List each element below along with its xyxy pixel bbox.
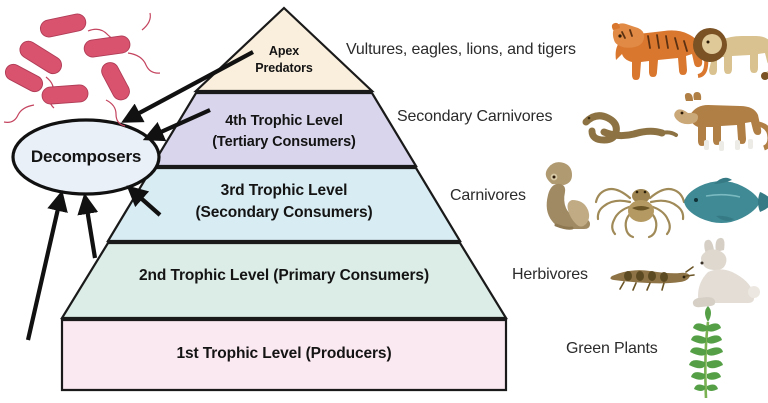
tier-label-apex-line1: Apex xyxy=(246,44,322,59)
decomposers-label: Decomposers xyxy=(24,147,148,167)
wolf-illustration xyxy=(674,92,768,151)
tier-label-primary: 2nd Trophic Level (Primary Consumers) xyxy=(124,267,444,285)
category-label-green-plants: Green Plants xyxy=(566,340,658,358)
category-label-herbivores: Herbivores xyxy=(512,266,588,284)
rabbit-illustration xyxy=(693,238,760,307)
tier-label-tertiary-line2: (Tertiary Consumers) xyxy=(198,134,370,151)
tiger-illustration xyxy=(612,23,706,80)
tier-label-producers: 1st Trophic Level (Producers) xyxy=(124,345,444,363)
green-plant-illustration xyxy=(689,306,723,398)
category-label-apex: Vultures, eagles, lions, and tigers xyxy=(346,41,576,59)
caterpillar-illustration xyxy=(610,267,694,290)
trophic-pyramid-diagram: Decomposers Apex Predators 4th Trophic L… xyxy=(0,0,768,403)
category-label-carnivores: Carnivores xyxy=(450,187,526,205)
snake-illustration xyxy=(586,116,662,140)
fish-illustration xyxy=(684,178,768,223)
frog-illustration xyxy=(546,162,590,229)
tier-label-apex-line2: Predators xyxy=(240,61,328,76)
category-label-secondary-carnivores: Secondary Carnivores xyxy=(397,108,552,126)
spider-illustration xyxy=(596,189,684,237)
tier-label-tertiary-line1: 4th Trophic Level xyxy=(204,113,364,130)
tier-label-secondary-line1: 3rd Trophic Level xyxy=(184,182,384,200)
tier-label-secondary-line2: (Secondary Consumers) xyxy=(168,204,400,222)
